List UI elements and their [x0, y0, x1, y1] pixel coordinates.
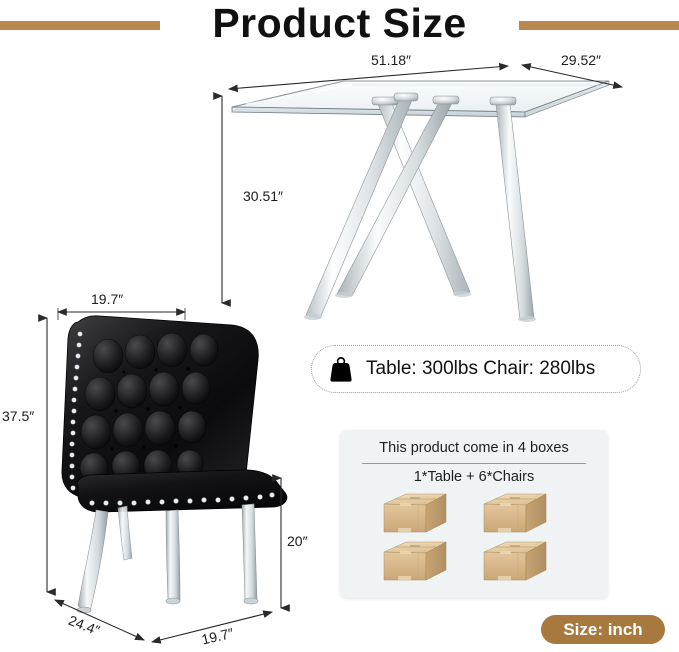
weight-capacity-badge: Table: 300lbs Chair: 280lbs	[311, 345, 641, 393]
chair-nailhead-trim-back	[70, 332, 83, 491]
table-legs	[304, 100, 536, 322]
chair-dimension-lines	[47, 308, 281, 642]
packaging-panel: This product come in 4 boxes 1*Table + 6…	[340, 430, 608, 598]
carton-2	[484, 494, 546, 532]
leg-brackets	[372, 93, 516, 105]
table-dimension-lines	[222, 65, 622, 303]
packaging-boxes	[362, 492, 586, 588]
page-title: Product Size	[0, 0, 679, 48]
carton-3	[384, 542, 446, 580]
chair-total-height-label: 37.5″	[2, 408, 34, 424]
packaging-subtitle: 1*Table + 6*Chairs	[340, 469, 608, 485]
table-height-label: 30.51″	[243, 188, 283, 204]
chair-nailhead-trim-seat	[90, 493, 275, 506]
weight-icon	[326, 355, 356, 383]
unit-badge: Size: inch	[541, 615, 665, 644]
chair-depth-label: 24.4″	[66, 612, 102, 638]
product-size-infographic: Product Size	[0, 0, 679, 652]
chair-seat-height-label: 20″	[287, 533, 308, 549]
chair-back	[62, 316, 258, 506]
chair-tufting	[80, 333, 218, 483]
packaging-divider	[362, 463, 586, 464]
chair-back-width-label: 19.7″	[91, 291, 123, 307]
carton-1	[384, 494, 446, 532]
glass-tabletop	[232, 81, 609, 117]
chair-legs	[77, 504, 258, 613]
weight-capacity-text: Table: 300lbs Chair: 280lbs	[366, 358, 595, 380]
header: Product Size	[0, 0, 679, 50]
table-width-label: 51.18″	[371, 52, 411, 68]
chair-seat	[78, 470, 287, 512]
chair-base-width-label: 19.7″	[200, 625, 235, 648]
carton-4	[484, 542, 546, 580]
packaging-title: This product come in 4 boxes	[340, 440, 608, 456]
table-depth-label: 29.52″	[561, 52, 601, 68]
